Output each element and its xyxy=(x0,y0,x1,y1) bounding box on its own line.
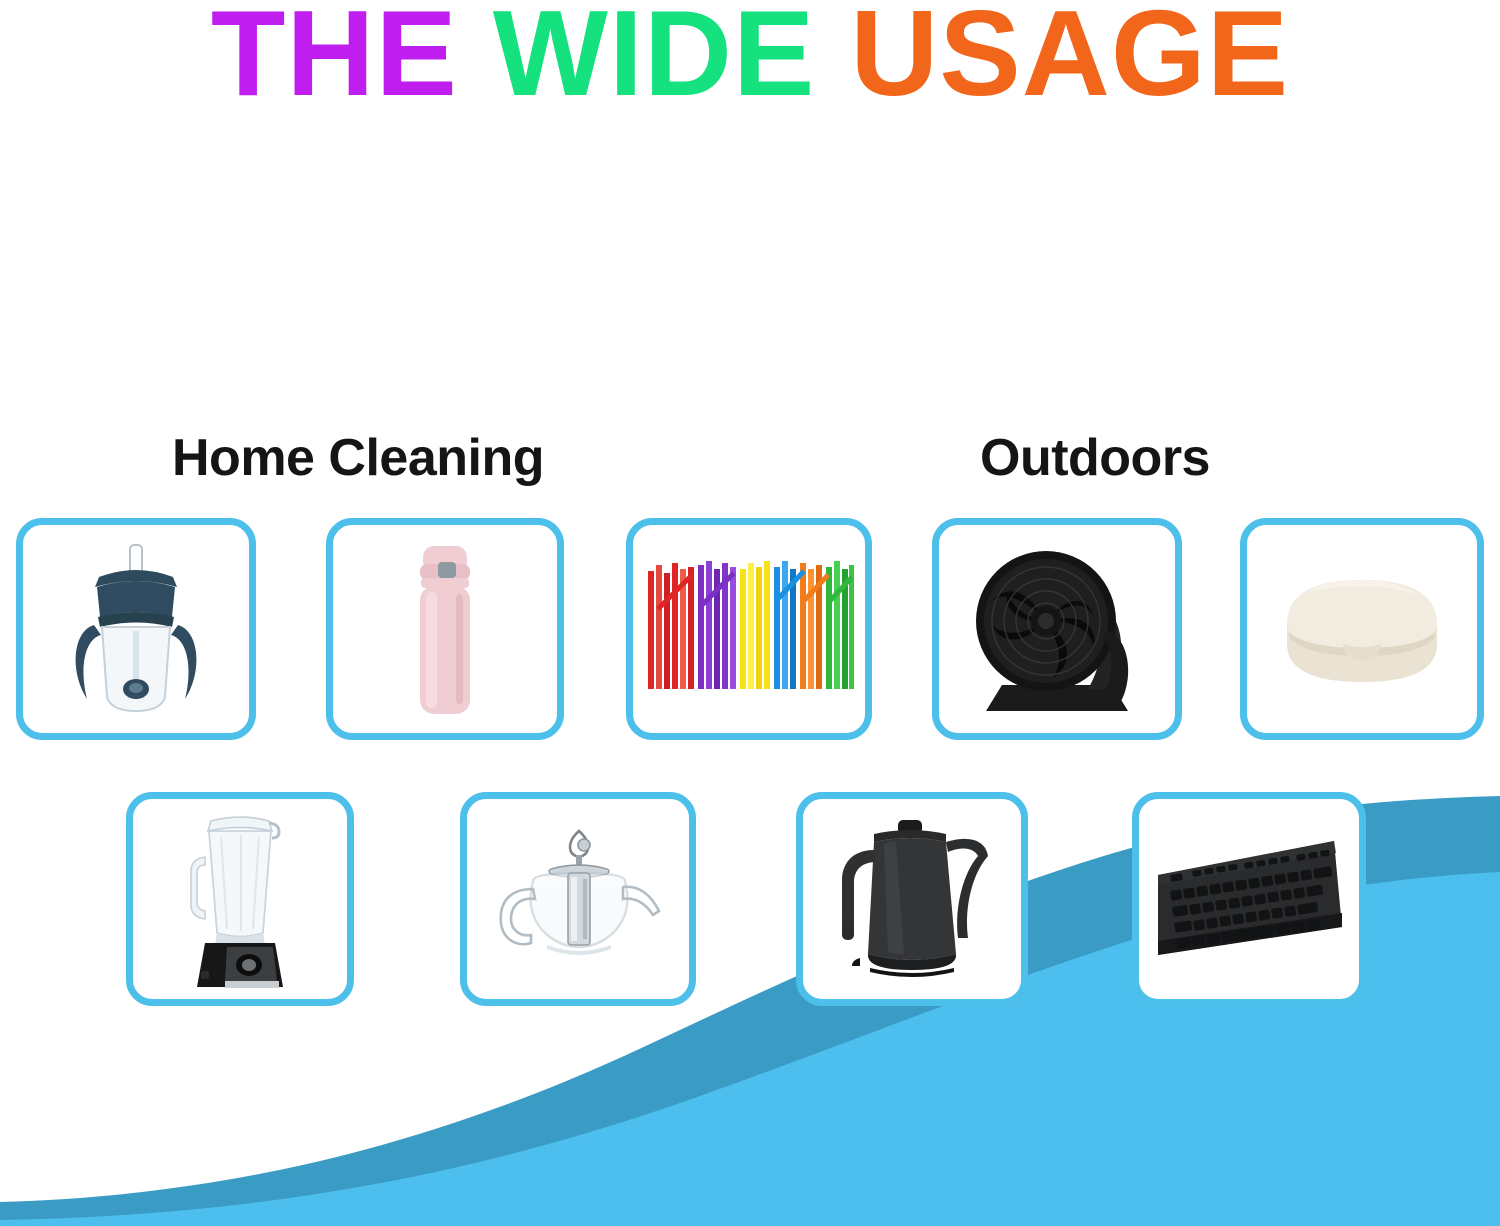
sippy-cup-icon xyxy=(23,525,249,733)
product-card-drinking-straws[interactable] xyxy=(626,518,872,740)
glass-teapot-icon xyxy=(467,799,689,999)
title-word-wide: WIDE xyxy=(493,0,816,120)
thermos-bottle-icon xyxy=(333,525,557,733)
product-card-desk-fan[interactable] xyxy=(932,518,1182,740)
poster-canvas: THE WIDE USAGE Home Cleaning Outdoors xyxy=(0,0,1500,1226)
blender-icon xyxy=(133,799,347,999)
section-heading-home-cleaning: Home Cleaning xyxy=(172,428,544,488)
product-card-gooseneck-kettle[interactable] xyxy=(796,792,1028,1006)
soap-box-icon xyxy=(1247,525,1477,733)
desk-fan-icon xyxy=(939,525,1175,733)
keyboard-icon xyxy=(1139,799,1359,999)
product-card-sippy-cup[interactable] xyxy=(16,518,256,740)
product-card-soap-box[interactable] xyxy=(1240,518,1484,740)
drinking-straws-icon xyxy=(633,525,865,733)
product-card-blender[interactable] xyxy=(126,792,354,1006)
product-card-thermos-bottle[interactable] xyxy=(326,518,564,740)
gooseneck-kettle-icon xyxy=(803,799,1021,999)
product-card-glass-teapot[interactable] xyxy=(460,792,696,1006)
section-heading-outdoors: Outdoors xyxy=(980,428,1210,488)
title-word-usage: USAGE xyxy=(850,0,1289,120)
page-title: THE WIDE USAGE xyxy=(0,0,1500,120)
title-word-the: THE xyxy=(211,0,458,120)
product-card-keyboard[interactable] xyxy=(1132,792,1366,1006)
